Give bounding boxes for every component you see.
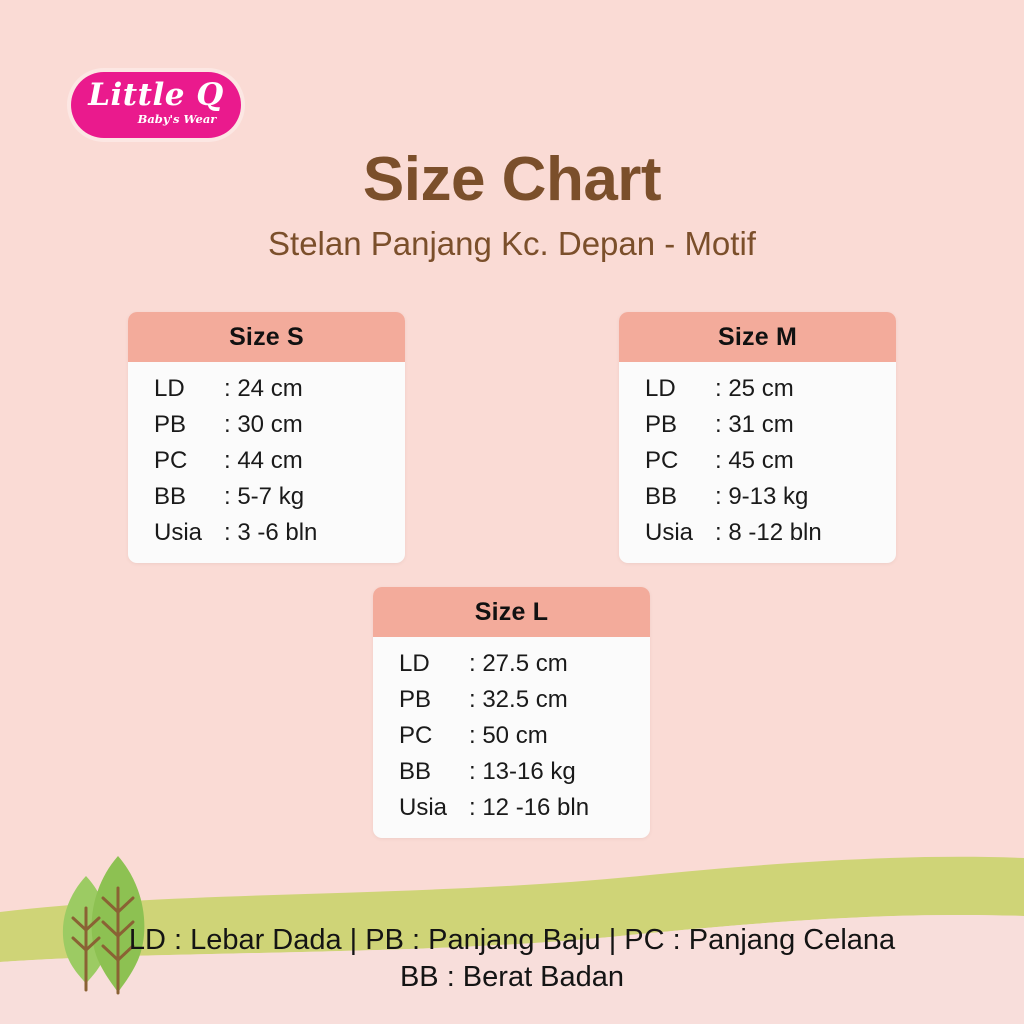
measurement-label: LD xyxy=(619,375,715,403)
measurement-label: LD xyxy=(373,650,469,678)
size-card-m: Size M LD : 25 cm PB : 31 cm PC : 45 cm … xyxy=(619,312,896,563)
size-card-l-title: Size L xyxy=(373,587,650,637)
size-card-m-title: Size M xyxy=(619,312,896,362)
size-card-l-body: LD : 27.5 cm PB : 32.5 cm PC : 50 cm BB … xyxy=(373,637,650,838)
table-row: Usia : 12 -16 bln xyxy=(373,790,650,826)
measurement-value: : 25 cm xyxy=(715,375,794,403)
measurement-value: : 27.5 cm xyxy=(469,650,568,678)
size-card-s: Size S LD : 24 cm PB : 30 cm PC : 44 cm … xyxy=(128,312,405,563)
measurement-label: BB xyxy=(128,483,224,511)
table-row: LD : 25 cm xyxy=(619,371,896,407)
measurement-value: : 45 cm xyxy=(715,447,794,475)
measurement-label: PB xyxy=(619,411,715,439)
table-row: PB : 31 cm xyxy=(619,407,896,443)
measurement-value: : 12 -16 bln xyxy=(469,794,589,822)
measurement-label: BB xyxy=(373,758,469,786)
measurement-value: : 5-7 kg xyxy=(224,483,304,511)
table-row: Usia : 8 -12 bln xyxy=(619,515,896,551)
table-row: LD : 24 cm xyxy=(128,371,405,407)
size-card-l: Size L LD : 27.5 cm PB : 32.5 cm PC : 50… xyxy=(373,587,650,838)
measurement-value: : 13-16 kg xyxy=(469,758,576,786)
brand-logo-tagline: Baby's Wear xyxy=(71,112,241,126)
page-subtitle: Stelan Panjang Kc. Depan - Motif xyxy=(0,222,1024,266)
measurement-value: : 30 cm xyxy=(224,411,303,439)
footer-legend-line2: BB : Berat Badan xyxy=(0,955,1024,999)
measurement-label: Usia xyxy=(619,519,715,547)
page-title: Size Chart xyxy=(0,144,1024,216)
measurement-value: : 32.5 cm xyxy=(469,686,568,714)
measurement-value: : 9-13 kg xyxy=(715,483,808,511)
measurement-label: Usia xyxy=(128,519,224,547)
measurement-label: LD xyxy=(128,375,224,403)
measurement-label: BB xyxy=(619,483,715,511)
measurement-label: PC xyxy=(373,722,469,750)
table-row: BB : 13-16 kg xyxy=(373,754,650,790)
measurement-label: Usia xyxy=(373,794,469,822)
table-row: PC : 45 cm xyxy=(619,443,896,479)
size-card-s-body: LD : 24 cm PB : 30 cm PC : 44 cm BB : 5-… xyxy=(128,362,405,563)
measurement-value: : 24 cm xyxy=(224,375,303,403)
measurement-value: : 44 cm xyxy=(224,447,303,475)
table-row: Usia : 3 -6 bln xyxy=(128,515,405,551)
measurement-label: PB xyxy=(373,686,469,714)
measurement-value: : 50 cm xyxy=(469,722,548,750)
table-row: PB : 30 cm xyxy=(128,407,405,443)
table-row: BB : 9-13 kg xyxy=(619,479,896,515)
measurement-value: : 8 -12 bln xyxy=(715,519,822,547)
measurement-label: PC xyxy=(619,447,715,475)
measurement-value: : 31 cm xyxy=(715,411,794,439)
measurement-label: PC xyxy=(128,447,224,475)
brand-logo-name: Little Q xyxy=(71,76,241,114)
size-chart-page: Little Q Baby's Wear Size Chart Stelan P… xyxy=(0,0,1024,1024)
table-row: PC : 50 cm xyxy=(373,718,650,754)
size-card-m-body: LD : 25 cm PB : 31 cm PC : 45 cm BB : 9-… xyxy=(619,362,896,563)
table-row: PC : 44 cm xyxy=(128,443,405,479)
table-row: PB : 32.5 cm xyxy=(373,682,650,718)
brand-logo: Little Q Baby's Wear xyxy=(71,72,241,138)
size-card-s-title: Size S xyxy=(128,312,405,362)
measurement-label: PB xyxy=(128,411,224,439)
measurement-value: : 3 -6 bln xyxy=(224,519,317,547)
table-row: BB : 5-7 kg xyxy=(128,479,405,515)
table-row: LD : 27.5 cm xyxy=(373,646,650,682)
